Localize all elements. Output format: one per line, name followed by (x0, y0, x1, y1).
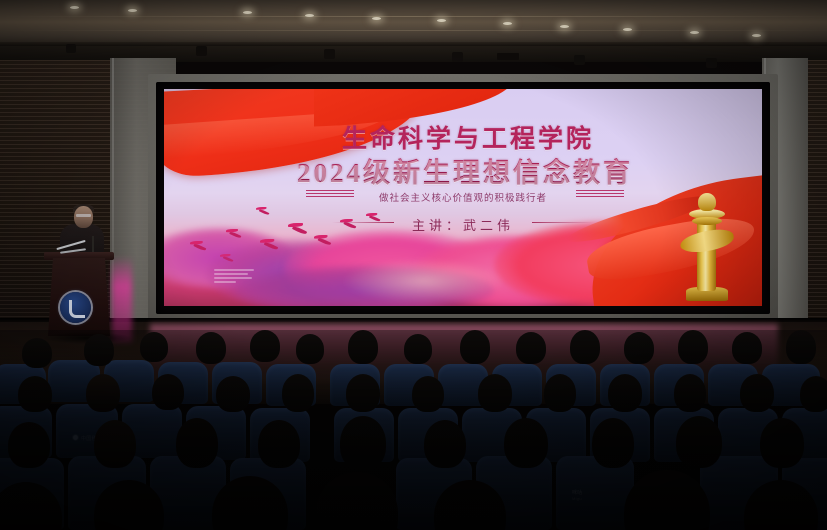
spotlight-icon (452, 52, 463, 62)
audience-head (140, 332, 168, 362)
track-light-icon (503, 22, 512, 25)
audience-head (800, 376, 827, 412)
spotlight-icon (706, 58, 717, 68)
audience-head (424, 420, 466, 468)
podium-group (30, 200, 140, 340)
audience-head (786, 330, 816, 364)
audience-head (740, 374, 774, 412)
audience-head (674, 374, 706, 412)
screen-text-layer: 生命科学与工程学院 2024级新生理想信念教育 做社会主义核心价值观的积极践行者… (164, 89, 762, 306)
audience-head (348, 330, 378, 364)
audience-head (8, 422, 50, 468)
track-light-icon (70, 6, 79, 9)
ceiling (0, 0, 827, 46)
screen-title-line2: 2024级新生理想信念教育 (166, 151, 762, 190)
lighting-rail (0, 42, 827, 46)
audience-head (544, 374, 576, 412)
track-light-icon (372, 17, 381, 20)
track-light-icon (690, 31, 699, 34)
audience-head (196, 332, 226, 364)
seat-logo-migu: 咪咕 Migu (572, 490, 583, 502)
audience-head (346, 374, 380, 412)
track-light-icon (128, 9, 137, 12)
glasses-icon (76, 214, 91, 217)
audience-head (152, 374, 184, 410)
audience-head (478, 374, 512, 412)
audience-head-foreground (624, 470, 710, 530)
audience-head (296, 334, 324, 364)
track-light-icon (623, 28, 632, 31)
china-mobile-icon (72, 434, 79, 441)
audience-head (22, 338, 52, 368)
audience-head (18, 376, 52, 412)
audience-head (504, 418, 548, 468)
screen-title-line1: 生命科学与工程学院 (169, 119, 762, 155)
spotlight-icon (497, 53, 519, 60)
audience-head (176, 418, 218, 468)
audience-head (732, 332, 762, 364)
audience-head (340, 416, 386, 470)
audience-head (624, 332, 654, 364)
audience-head (592, 418, 634, 468)
audience-head (250, 330, 280, 362)
spotlight-icon (66, 44, 76, 53)
audience-area: 中国移动 China Mobile 咪咕 Migu 咪咕 中国移动 (0, 330, 827, 530)
screen-watermark (214, 267, 258, 293)
audience-head (760, 418, 804, 468)
audience-head (216, 376, 250, 412)
audience-head (460, 330, 490, 364)
audience-head (570, 330, 600, 364)
track-light-icon (305, 14, 314, 17)
presenter-head (74, 206, 93, 228)
audience-head (282, 374, 314, 412)
screen-subtitle: 做社会主义核心价值观的积极践行者 (164, 190, 762, 204)
university-crest-icon (60, 292, 91, 323)
audience-head (412, 376, 444, 412)
spotlight-icon (324, 49, 335, 59)
audience-head (678, 330, 708, 364)
audience-head (516, 332, 546, 364)
spotlight-icon (196, 46, 207, 56)
audience-head (404, 334, 432, 364)
audience-head (676, 416, 722, 468)
spotlight-icon (574, 55, 585, 65)
track-light-icon (560, 25, 569, 28)
track-light-icon (437, 19, 446, 22)
audience-head (84, 334, 114, 366)
track-light-icon (243, 11, 252, 14)
audience-head-foreground (316, 472, 398, 530)
audience-head (94, 420, 136, 468)
led-screen: 生命科学与工程学院 2024级新生理想信念教育 做社会主义核心价值观的积极践行者… (164, 89, 762, 306)
audience-head (86, 374, 120, 412)
auditorium-photo: 生命科学与工程学院 2024级新生理想信念教育 做社会主义核心价值观的积极践行者… (0, 0, 827, 530)
track-light-icon (752, 34, 761, 37)
screen-speaker-line: 主讲：武二伟 (164, 215, 762, 234)
audience-head (608, 374, 642, 412)
audience-head (258, 420, 300, 468)
seat (556, 456, 634, 530)
